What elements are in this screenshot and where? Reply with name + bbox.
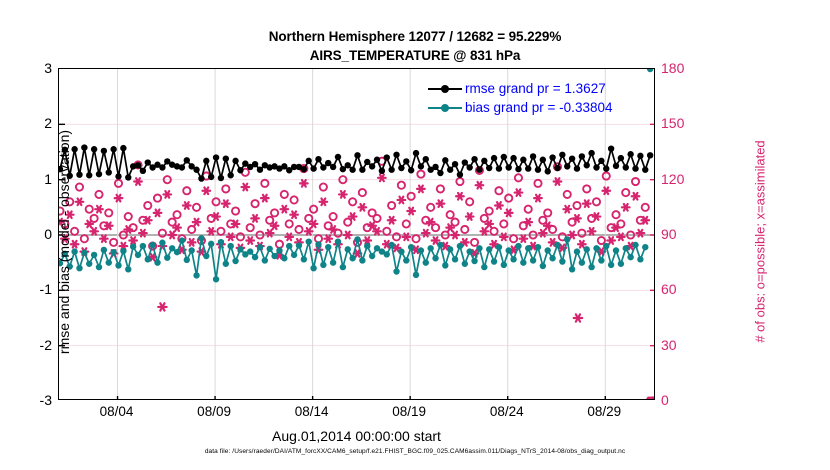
legend-swatch-rmse — [428, 83, 462, 95]
x-axis-title: Aug.01,2014 00:00:00 start — [58, 428, 655, 444]
y-tick-left-2: 2 — [44, 115, 52, 131]
x-tick-08-19: 08/19 — [392, 404, 426, 419]
plot-canvas — [59, 69, 654, 399]
y-tick-right-180: 180 — [661, 60, 684, 76]
y-tick-left-0: 0 — [44, 226, 52, 242]
y-tick-left--1: -1 — [40, 281, 52, 297]
legend-item-rmse[interactable]: rmse grand pr = 1.3627 — [428, 80, 612, 97]
y-tick-left-3: 3 — [44, 60, 52, 76]
y-axis-left-title-holder: rmse and bias (model - observation) — [12, 84, 32, 384]
chart-legend: rmse grand pr = 1.3627 bias grand pr = -… — [428, 80, 612, 118]
figure-root: Northern Hemisphere 12077 / 12682 = 95.2… — [0, 0, 830, 470]
y-axis-left-title: rmse and bias (model - observation) — [56, 82, 72, 402]
y-tick-right-150: 150 — [661, 115, 684, 131]
data-file-path: data file: /Users/raeder/DAI/ATM_forcXX/… — [0, 448, 830, 455]
y-tick-left--3: -3 — [40, 392, 52, 408]
x-tick-08-04: 08/04 — [100, 404, 134, 419]
legend-label-bias: bias grand pr = -0.33804 — [465, 101, 612, 114]
x-axis-ticks: 08/0408/0908/1408/1908/2408/29 — [58, 404, 655, 424]
y-axis-right-title: # of obs: o=possible; x=assimilated — [753, 82, 768, 402]
x-tick-08-14: 08/14 — [295, 404, 329, 419]
y-tick-right-30: 30 — [661, 337, 677, 353]
y-tick-left-1: 1 — [44, 171, 52, 187]
x-tick-08-24: 08/24 — [490, 404, 524, 419]
y-tick-right-90: 90 — [661, 226, 677, 242]
x-tick-08-09: 08/09 — [197, 404, 231, 419]
y-axis-right-ticks: 0306090120150180 — [661, 68, 701, 400]
y-axis-right-title-holder: # of obs: o=possible; x=assimilated — [706, 84, 726, 384]
y-tick-right-60: 60 — [661, 281, 677, 297]
y-tick-right-120: 120 — [661, 171, 684, 187]
legend-swatch-bias — [428, 102, 462, 114]
y-tick-left--2: -2 — [40, 337, 52, 353]
chart-title-line-1: Northern Hemisphere 12077 / 12682 = 95.2… — [0, 28, 830, 46]
series-layer — [59, 69, 654, 399]
legend-label-rmse: rmse grand pr = 1.3627 — [465, 82, 606, 95]
chart-title: Northern Hemisphere 12077 / 12682 = 95.2… — [0, 28, 830, 65]
y-tick-right-0: 0 — [661, 392, 669, 408]
x-tick-08-29: 08/29 — [587, 404, 621, 419]
chart-title-line-2: AIRS_TEMPERATURE @ 831 hPa — [0, 47, 830, 65]
legend-item-bias[interactable]: bias grand pr = -0.33804 — [428, 99, 612, 116]
